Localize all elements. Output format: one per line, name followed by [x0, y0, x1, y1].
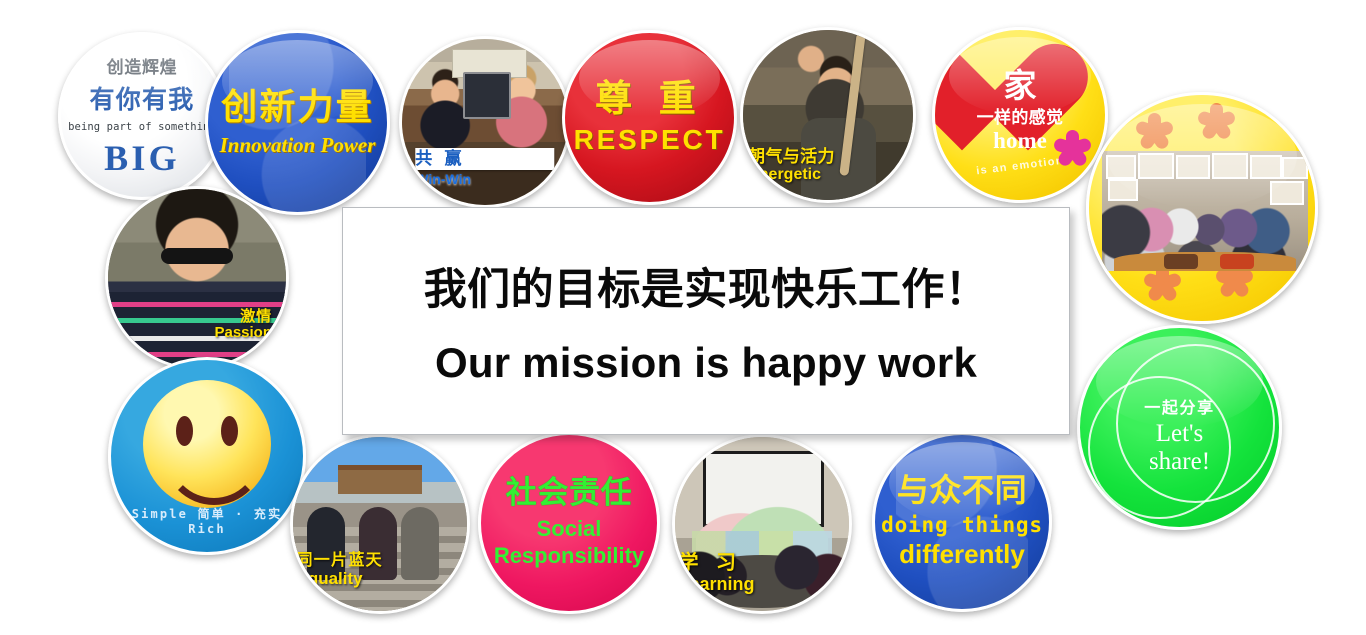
mission-chinese-text: 我们的目标是实现快乐工作！ [424, 255, 989, 317]
wall-frame [1282, 157, 1308, 179]
badge-caption: 朝气与活力 Energetic [748, 148, 908, 184]
badge-caption: 激情 Passion [214, 309, 272, 341]
badge-caption: 学 习 Learning [678, 553, 845, 595]
badge-line-1: 一起分享 [1100, 394, 1259, 418]
flower-icon [1133, 111, 1175, 153]
badge-home-is-an-emotion[interactable]: 家 一样的感觉 home is an emotion [932, 27, 1108, 203]
badge-english-text: Win-Win [415, 172, 554, 187]
badge-arc-text: Simple 简单 · 充实 Rich [111, 505, 303, 536]
badge-content: 创造辉煌 有你有我 being part of something BIG [61, 35, 223, 197]
badge-english-text: Equality [296, 570, 463, 589]
badge-chinese-text: 尊 重 [595, 80, 704, 119]
mission-banner: 我们的目标是实现快乐工作！ Our mission is happy work [342, 207, 1070, 435]
wall-frame [1212, 153, 1248, 179]
wall-frame [1176, 155, 1210, 179]
badge-caption: 共 赢 Win-Win [415, 148, 554, 187]
badge-content: 尊 重 RESPECT [565, 33, 734, 202]
badge-english-line-1: doing things [881, 513, 1043, 537]
badge-chinese-text: 创新力量 [221, 88, 374, 126]
badge-content: 与众不同 doing things differently [875, 435, 1049, 609]
badge-line-3: being part of something [68, 121, 216, 133]
badge-english-text: Energetic [748, 166, 908, 184]
flower-icon [1055, 132, 1089, 166]
table [1114, 252, 1295, 271]
badge-line-2: 有你有我 [89, 80, 194, 116]
badge-line-2: 一样的感觉 [954, 103, 1086, 128]
pavilion [338, 465, 422, 494]
badge-learning[interactable]: 学 习 Learning [672, 434, 852, 614]
badge-lets-share[interactable]: 一起分享 Let's share! [1077, 325, 1282, 530]
badge-chinese-text: 激情 [214, 309, 272, 325]
wall-frame [1138, 153, 1174, 179]
badge-innovation-power[interactable]: 创新力量 Innovation Power [205, 30, 390, 215]
cake-icon [1220, 254, 1254, 269]
smiley-face-icon [143, 380, 271, 508]
badge-caption: 同一片蓝天 Equality [296, 553, 463, 589]
badge-english-text: Learning [678, 575, 845, 595]
mission-english-text: Our mission is happy work [435, 339, 977, 387]
badge-win-win[interactable]: 共 赢 Win-Win [399, 36, 571, 208]
badge-content: 社会责任 Social Responsibility [481, 435, 657, 611]
badge-line-4: BIG [104, 137, 180, 179]
badge-english-text: RESPECT [574, 125, 726, 156]
monitor [463, 72, 510, 119]
badge-social-responsibility[interactable]: 社会责任 Social Responsibility [478, 432, 660, 614]
badge-team-photo[interactable] [1086, 92, 1318, 324]
badge-energetic[interactable]: 朝气与活力 Energetic [740, 27, 916, 203]
badge-equality[interactable]: 同一片蓝天 Equality [290, 434, 470, 614]
badge-chinese-text: 与众不同 [897, 474, 1028, 508]
cake-icon [1164, 254, 1198, 269]
badge-chinese-text: 同一片蓝天 [296, 553, 463, 570]
badge-line-1: 创造辉煌 [107, 53, 178, 78]
team-group-photo [1102, 151, 1308, 271]
badge-chinese-text: 朝气与活力 [748, 148, 908, 166]
wall-frame [1106, 155, 1136, 179]
badge-being-part-of-something-big[interactable]: 创造辉煌 有你有我 being part of something BIG [58, 32, 226, 200]
badge-passion[interactable]: 激情 Passion [105, 186, 289, 370]
badge-english-text: Innovation Power [220, 134, 376, 157]
badge-respect[interactable]: 尊 重 RESPECT [562, 30, 737, 205]
badge-line-4: is an emotion [976, 155, 1065, 178]
values-poster: 创造辉煌 有你有我 being part of something BIG 创新… [0, 0, 1366, 635]
badge-content: 创新力量 Innovation Power [208, 33, 387, 212]
badge-chinese-text: 学 习 [678, 553, 845, 574]
badge-chinese-text: 社会责任 [506, 477, 632, 510]
badge-english-line-2: Responsibility [494, 543, 644, 569]
badge-line-1: 家 [954, 69, 1086, 102]
badge-simple-and-rich[interactable]: Simple 简单 · 充实 Rich [108, 357, 306, 555]
badge-doing-things-differently[interactable]: 与众不同 doing things differently [872, 432, 1052, 612]
badge-english-text: Passion [214, 325, 272, 342]
sunglasses [161, 248, 232, 264]
wall-frame [1250, 155, 1282, 179]
badge-line-3: share! [1100, 448, 1259, 476]
smile-mouth [163, 439, 264, 504]
badge-english-line-1: Social [537, 516, 602, 542]
flower-icon [1197, 103, 1235, 141]
badge-english-line-2: differently [899, 539, 1025, 570]
badge-content: 一起分享 Let's share! [1100, 394, 1259, 476]
badge-arc-caption: Simple 简单 · 充实 Rich [111, 505, 303, 538]
badge-chinese-text: 共 赢 [415, 148, 554, 170]
badge-line-2: Let's [1100, 420, 1259, 448]
